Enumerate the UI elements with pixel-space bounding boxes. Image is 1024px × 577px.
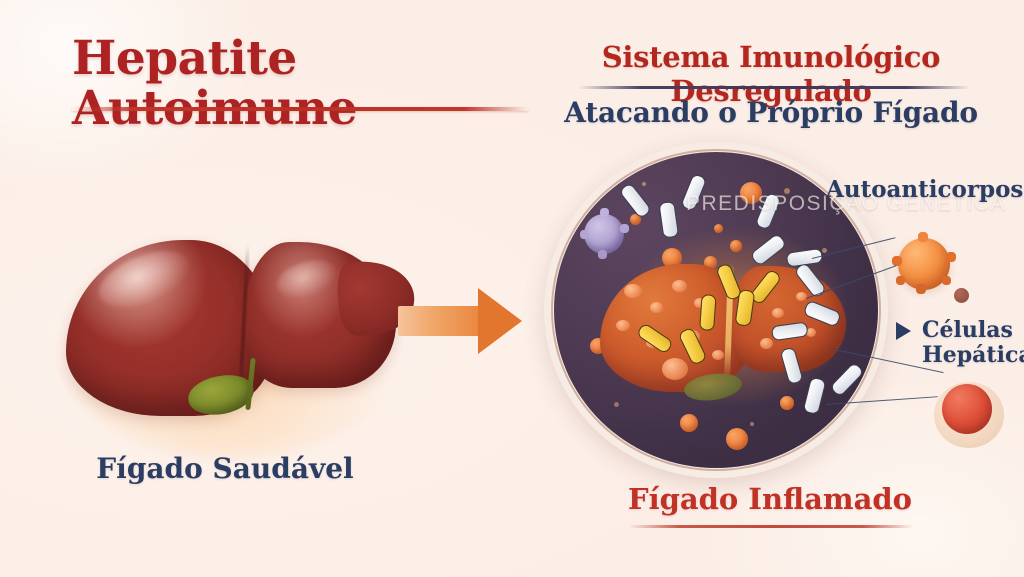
inflamed-caption-underline (628, 525, 914, 528)
autoantibody-attacking-icon (727, 262, 767, 310)
particle (750, 422, 754, 426)
antibody-stem (803, 300, 842, 328)
lymphocyte-spike (620, 224, 629, 233)
healthy-liver-illustration (62, 218, 402, 448)
liver-lesion (616, 320, 630, 331)
antibody-arm-right (793, 261, 827, 299)
small-particle (954, 288, 969, 303)
callout-label-celulas-hepaticas: Células Hepáticas (922, 318, 1024, 368)
healthy-liver-caption: Fígado Saudável (60, 452, 390, 485)
right-subheading: Atacando o Próprio Fígado (536, 96, 1006, 129)
antibody-stem (802, 376, 826, 415)
lymphocyte-spike (580, 230, 589, 239)
title-underline (72, 107, 528, 111)
lymphocyte-spike (598, 250, 607, 259)
right-heading-divider (578, 86, 970, 89)
liver-lesion (672, 280, 687, 292)
arrow-shaft (398, 306, 486, 336)
infographic-canvas: Hepatite Autoimune Sistema Imunológico D… (0, 0, 1024, 577)
antibody-arm-right (699, 294, 716, 331)
callout-label-line-1: Células (922, 318, 1024, 343)
page-title: Hepatite Autoimune (72, 34, 542, 134)
lymphocyte-cell (584, 214, 624, 254)
callout-label-line-2: Hepáticas (922, 343, 1024, 368)
particle (822, 248, 827, 253)
antibody-arm-left (779, 346, 803, 385)
callout-arrow-celulas (896, 322, 911, 340)
inflamed-liver-caption: Fígado Inflamado (570, 482, 970, 516)
particle (594, 196, 599, 201)
hepatocyte-spike (916, 284, 926, 294)
inflamed-red-cell (942, 384, 992, 434)
callout-label-autoanticorpos: Autoanticorpos (826, 176, 1023, 203)
particle (614, 402, 619, 407)
hepatocyte-spike (892, 256, 902, 266)
autoantibody-icon (784, 346, 851, 417)
antibody-stem (658, 201, 679, 239)
hepatocyte-spike (942, 276, 951, 285)
antibody-arm-left (618, 182, 652, 220)
antibody-stem (749, 232, 787, 267)
inflammation-blob (714, 224, 723, 233)
inflammation-blob (726, 428, 748, 450)
hepatocyte-spike (946, 252, 956, 262)
hepatocyte-spike (896, 276, 905, 285)
arrow-head (478, 288, 522, 354)
transition-arrow-icon (398, 288, 526, 354)
inflammation-blob (680, 414, 698, 432)
liver-lesion (624, 284, 642, 298)
antibody-stem (678, 327, 708, 366)
lymphocyte-spike (600, 208, 609, 217)
hepatocyte-spike (918, 232, 928, 242)
liver-lesion (760, 338, 773, 349)
